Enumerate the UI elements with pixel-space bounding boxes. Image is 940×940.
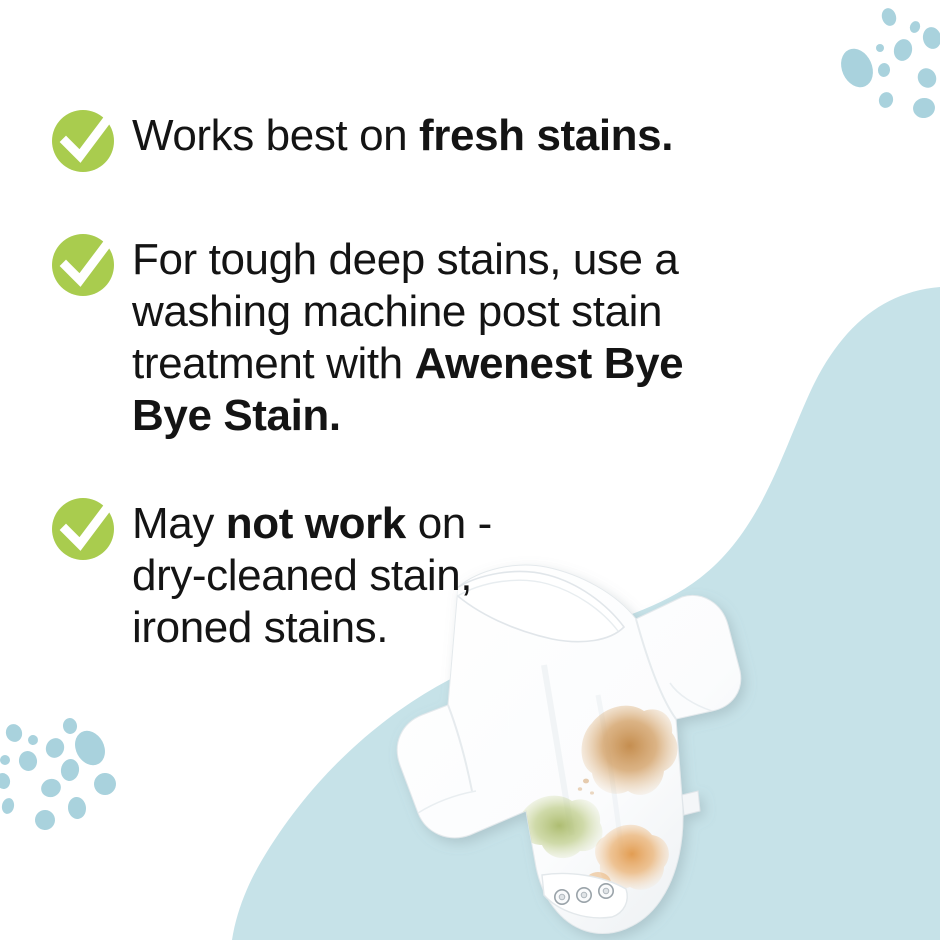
check-circle-icon xyxy=(50,228,120,298)
check-circle-icon xyxy=(50,104,120,174)
list-item: For tough deep stains, use a washing mac… xyxy=(50,228,732,442)
bullet-text: For tough deep stains, use a washing mac… xyxy=(132,228,732,442)
infographic-canvas: Works best on fresh stains. For tough de… xyxy=(0,0,940,940)
list-item: Works best on fresh stains. xyxy=(50,104,673,174)
list-item: May not work on - dry-cleaned stain, iro… xyxy=(50,492,492,654)
check-circle-icon xyxy=(50,492,120,562)
bullet-text: May not work on - dry-cleaned stain, iro… xyxy=(132,492,492,654)
tips-bullet-list: Works best on fresh stains. For tough de… xyxy=(0,0,940,940)
bullet-text: Works best on fresh stains. xyxy=(132,104,673,162)
